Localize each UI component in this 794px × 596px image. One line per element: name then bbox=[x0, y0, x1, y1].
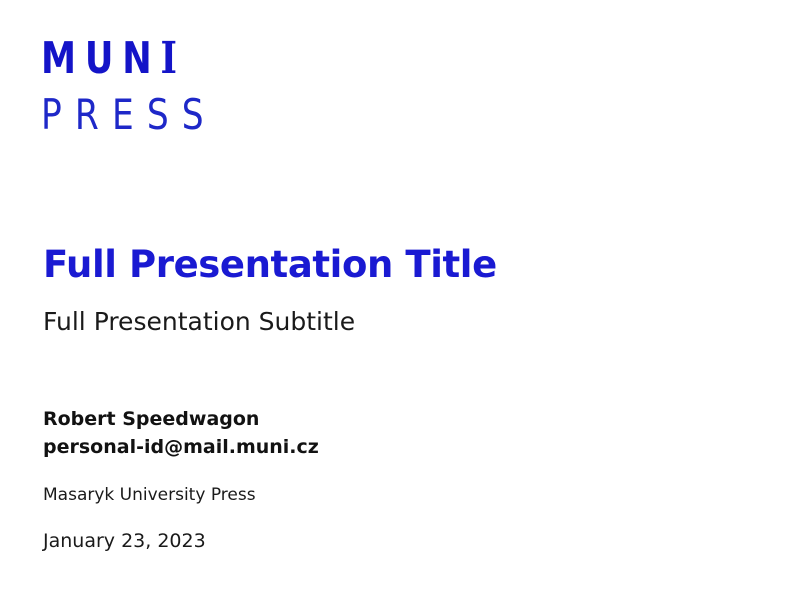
presentation-date: January 23, 2023 bbox=[43, 528, 206, 554]
presentation-title: Full Presentation Title bbox=[43, 243, 497, 287]
logo-muni-wordmark: MUNI bbox=[41, 36, 213, 82]
presentation-subtitle: Full Presentation Subtitle bbox=[43, 306, 355, 338]
presentation-title-slide: MUNI PRESS Full Presentation Title Full … bbox=[0, 0, 794, 596]
logo-muni-letters: MUN bbox=[41, 33, 160, 84]
logo-muni-serif-i: I bbox=[160, 33, 176, 84]
author-email: personal-id@mail.muni.cz bbox=[43, 433, 319, 461]
logo-press-wordmark: PRESS bbox=[41, 93, 217, 137]
affiliation: Masaryk University Press bbox=[43, 483, 256, 507]
muni-press-logo: MUNI PRESS bbox=[41, 36, 255, 137]
author-block: Robert Speedwagon personal-id@mail.muni.… bbox=[43, 405, 319, 461]
author-name: Robert Speedwagon bbox=[43, 405, 319, 433]
